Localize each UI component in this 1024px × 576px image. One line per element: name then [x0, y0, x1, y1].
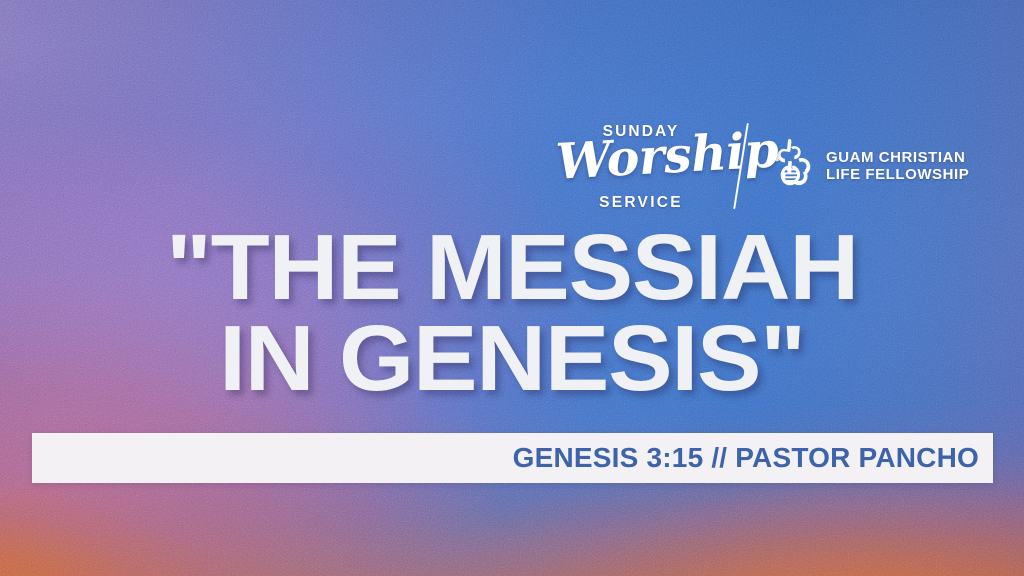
church-lockup: GUAM CHRISTIAN LIFE FELLOWSHIP — [764, 137, 969, 195]
worship-mark-service: SERVICE — [560, 195, 722, 211]
sermon-title-line-2: IN GENESIS" — [0, 313, 1024, 404]
scripture-reference-bar: GENESIS 3:15 // PASTOR PANCHO — [32, 433, 993, 483]
header-lockup: SUNDAY Worship SERVICE — [560, 118, 980, 214]
worship-mark-script: Worship — [555, 128, 727, 186]
scripture-reference-text: GENESIS 3:15 // PASTOR PANCHO — [513, 442, 993, 474]
church-name-line-2: LIFE FELLOWSHIP — [826, 166, 969, 183]
sermon-title: "THE MESSIAH IN GENESIS" — [0, 222, 1024, 404]
church-wordmark: GUAM CHRISTIAN LIFE FELLOWSHIP — [826, 149, 969, 184]
church-name-line-1: GUAM CHRISTIAN — [826, 149, 969, 166]
sermon-title-slide: SUNDAY Worship SERVICE — [0, 0, 1024, 576]
sunday-worship-service-mark: SUNDAY Worship SERVICE — [560, 120, 722, 212]
sermon-title-line-1: "THE MESSIAH — [0, 222, 1024, 313]
